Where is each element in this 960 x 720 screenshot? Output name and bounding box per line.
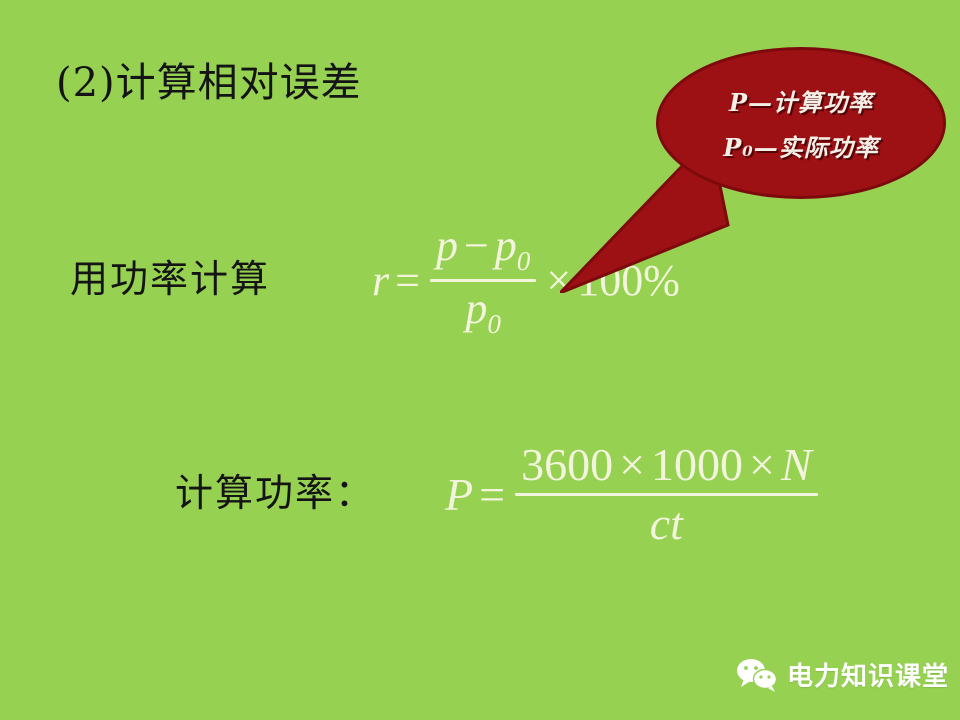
callout-line-2-text: P₀—实际功率 [723, 133, 879, 162]
label-calculated-power: 计算功率： [175, 462, 375, 517]
watermark-text: 电力知识课堂 [787, 656, 949, 693]
numerator-number-3600: 3600 [521, 439, 613, 490]
formula-relative-error-equals: = [389, 255, 426, 306]
watermark: 电力知识课堂 [736, 656, 949, 693]
numerator-var-n: N [781, 439, 812, 490]
numerator-var-p0-subscript: 0 [517, 246, 531, 276]
denominator-var-subscript: 0 [487, 309, 501, 339]
formula-relative-error-denominator: p0 [459, 285, 507, 339]
formula-relative-error: r = p−p0 p0 × 100% [372, 222, 680, 340]
formula-calc-power-numerator: 3600×1000×N [515, 440, 818, 490]
formula-relative-error-percent: 100% [577, 255, 680, 306]
numerator-var-p0: p [495, 221, 517, 270]
formula-calc-power-denominator: ct [644, 499, 689, 549]
numerator-var-p: p [436, 221, 458, 270]
formula-relative-error-times: × [540, 255, 577, 306]
label-power-calculation: 用功率计算 [70, 248, 270, 303]
formula-calc-power-equals: = [473, 468, 511, 521]
fraction-bar [515, 493, 818, 496]
denominator-var-p: p [465, 284, 487, 333]
formula-calc-power-lhs: P [445, 468, 473, 521]
callout-line-1: P—计算功率 [729, 83, 873, 118]
formula-relative-error-lhs: r [372, 255, 389, 306]
speech-callout: P—计算功率 P₀—实际功率 [656, 47, 946, 199]
formula-relative-error-numerator: p−p0 [430, 222, 536, 276]
formula-calc-power-fraction: 3600×1000×N ct [511, 440, 822, 548]
wechat-icon [736, 658, 778, 692]
page-title: (2)计算相对误差 [56, 62, 362, 104]
formula-relative-error-fraction: p−p0 p0 [426, 222, 540, 340]
fraction-bar [430, 279, 536, 282]
callout-line-2: P₀—实际功率 [723, 128, 879, 163]
slide-canvas: (2)计算相对误差 用功率计算 r = p−p0 p0 × 100% 计算功率：… [0, 0, 960, 720]
callout-line-1-text: P—计算功率 [729, 88, 873, 117]
formula-calculated-power: P = 3600×1000×N ct [445, 440, 822, 548]
numerator-times-1: × [613, 439, 651, 490]
numerator-minus: − [458, 221, 495, 270]
numerator-times-2: × [743, 439, 781, 490]
numerator-number-1000: 1000 [651, 439, 743, 490]
callout-bubble: P—计算功率 P₀—实际功率 [656, 47, 946, 199]
